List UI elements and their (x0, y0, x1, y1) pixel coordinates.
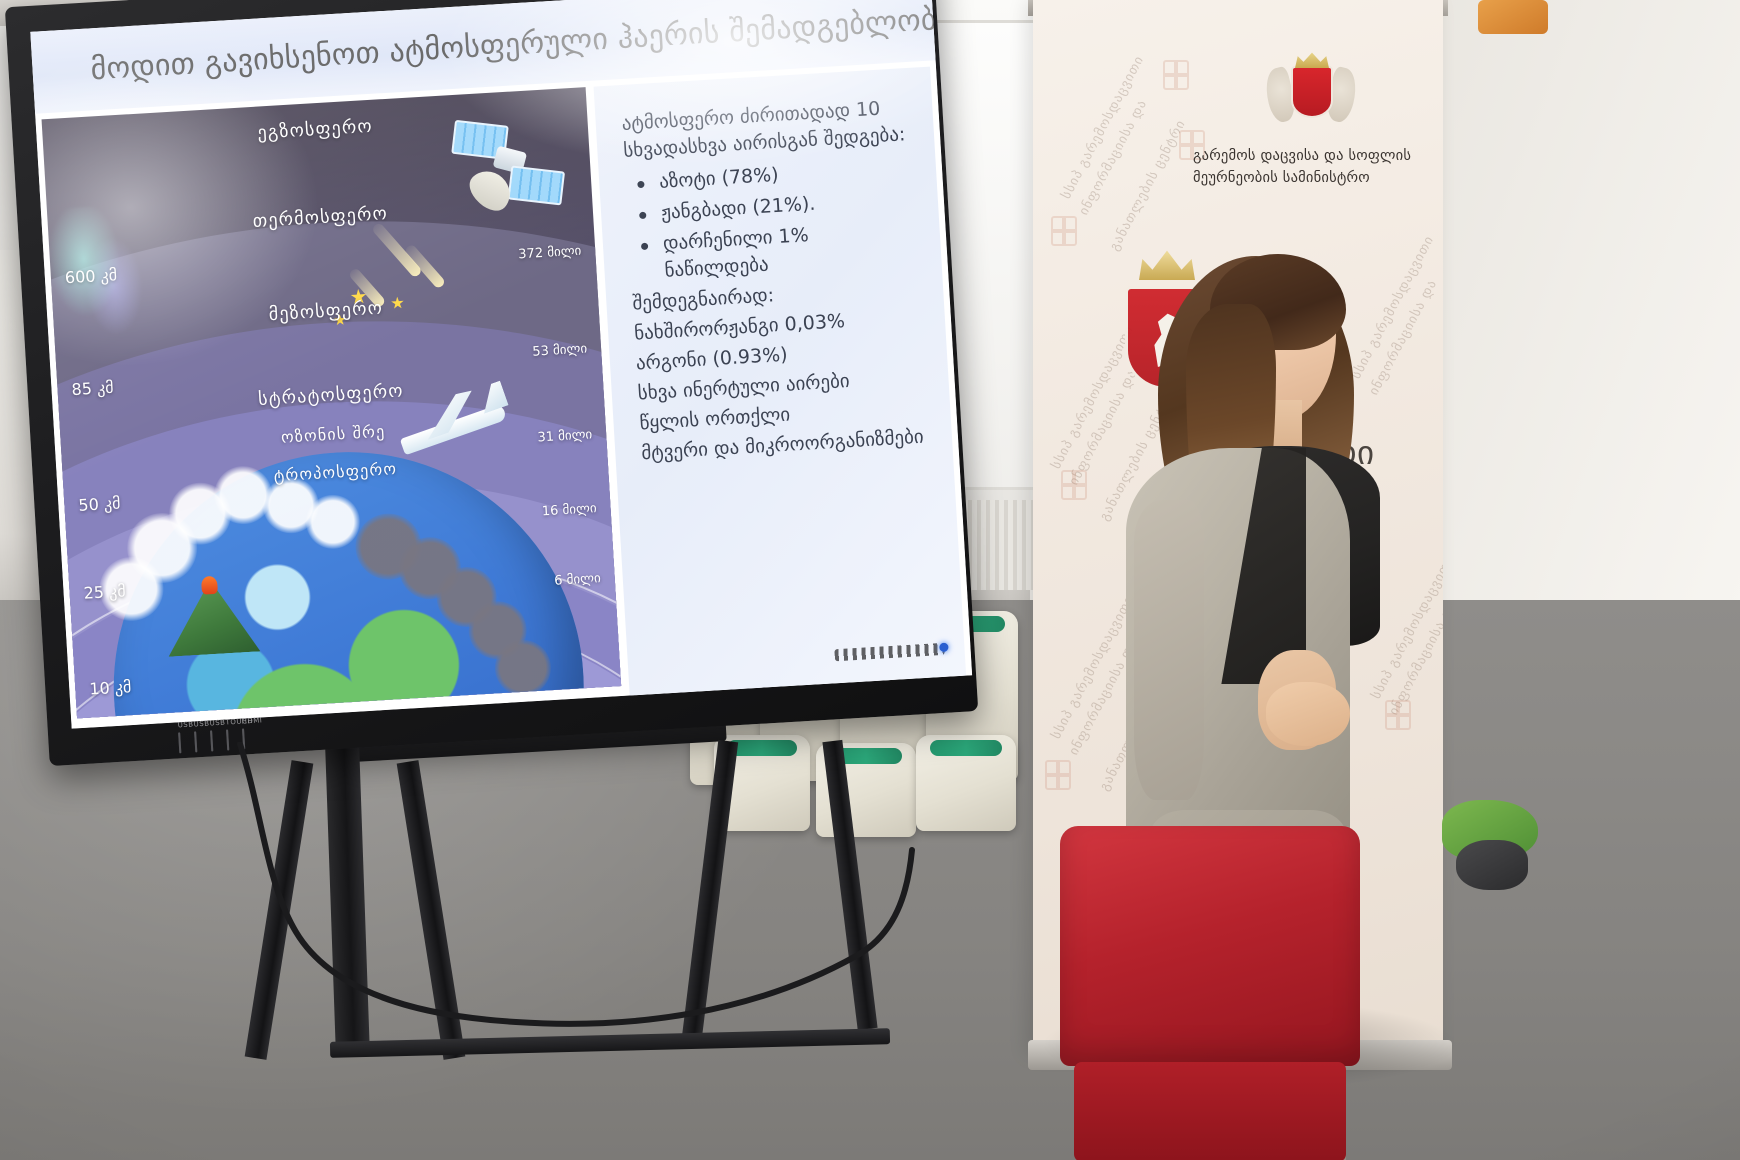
hdmi-port-icon (242, 728, 245, 749)
slide-bullet-list: აზოტი (78%) ჟანგბადი (21%). დარჩენილი 1%… (625, 154, 914, 286)
crest-shield (1291, 66, 1333, 118)
presentation-slide: მოდით გავიხსენოთ ატმოსფერული ჰაერის შემა… (30, 0, 972, 729)
port-label: USB (193, 720, 209, 729)
usb-port-icon (178, 732, 181, 753)
axis-tick-km-25: 25 კმ (83, 581, 126, 602)
banner-organization-name: გარემოს დაცვისა და სოფლის მეურნეობის სამ… (1193, 146, 1443, 190)
display-bezel: მოდით გავიხსენოთ ატმოსფერული ჰაერის შემა… (5, 0, 978, 766)
usb-port-icon (210, 730, 213, 751)
axis-tick-mi-6: 6 მილი (554, 571, 601, 589)
lava-icon (201, 576, 218, 595)
display-port-row: USB USB USB TOUCH HDMI (178, 729, 245, 752)
axis-tick-km-10: 10 კმ (89, 677, 132, 698)
slide-sublist: შემდეგნაირად: ნახშირორჟანგი 0,03% არგონი… (632, 274, 925, 467)
banner-org-line1: გარემოს დაცვისა და სოფლის (1193, 146, 1443, 168)
photo-scene: მოდით გავიხსენოთ ატმოსფერული ჰაერის შემა… (0, 0, 1740, 1160)
port-label: USB (177, 720, 193, 729)
usb-port-icon (194, 731, 197, 752)
port-label: HDMI (241, 716, 262, 725)
red-chair[interactable] (1060, 826, 1360, 1160)
leaf-watermark-icon (1163, 60, 1189, 90)
leaf-watermark-icon (1045, 760, 1071, 790)
port-hdmi[interactable]: HDMI (242, 729, 245, 748)
state-crest-small-icon (1265, 52, 1357, 152)
arm-left (1134, 500, 1204, 800)
slide-text-block: ატმოსფერო ძირითადად 10 სხვადასხვა აირისგ… (594, 67, 967, 696)
floor-object-dark (1456, 840, 1528, 890)
display-screen[interactable]: მოდით გავიხსენოთ ატმოსფერული ჰაერის შემა… (30, 0, 972, 729)
crest-crown (1295, 52, 1329, 68)
axis-tick-km-50: 50 კმ (78, 493, 121, 514)
port-touch[interactable]: TOUCH (226, 730, 229, 749)
banner-org-line2: მეურნეობის სამინისტრო (1193, 168, 1443, 190)
interactive-display[interactable]: მოდით გავიხსენოთ ატმოსფერული ჰაერის შემა… (0, 0, 1000, 793)
leaf-watermark-icon (1051, 216, 1077, 246)
touch-port-icon (226, 729, 229, 750)
leaf-watermark-icon (1061, 470, 1087, 500)
axis-tick-km-600: 600 კმ (64, 265, 117, 287)
port-usb-2[interactable]: USB (194, 732, 197, 751)
slide-body: ეგზოსფერო თერმოსფერო მეზოსფერო სტრატოსფე… (35, 60, 972, 728)
sack (916, 735, 1016, 831)
port-usb-3[interactable]: USB (210, 731, 213, 750)
clasped-hands (1266, 682, 1350, 746)
shelf-object-orange (1478, 0, 1548, 34)
slide-intro-text: ატმოსფერო ძირითადად 10 სხვადასხვა აირისგ… (621, 94, 907, 165)
chair-backrest (1060, 826, 1360, 1066)
port-label: USB (209, 719, 225, 728)
port-usb-1[interactable]: USB (178, 733, 181, 752)
axis-tick-km-85: 85 კმ (71, 378, 114, 399)
atmosphere-diagram: ეგზოსფერო თერმოსფერო მეზოსფერო სტრატოსფე… (42, 87, 622, 718)
chair-seat (1074, 1062, 1346, 1160)
